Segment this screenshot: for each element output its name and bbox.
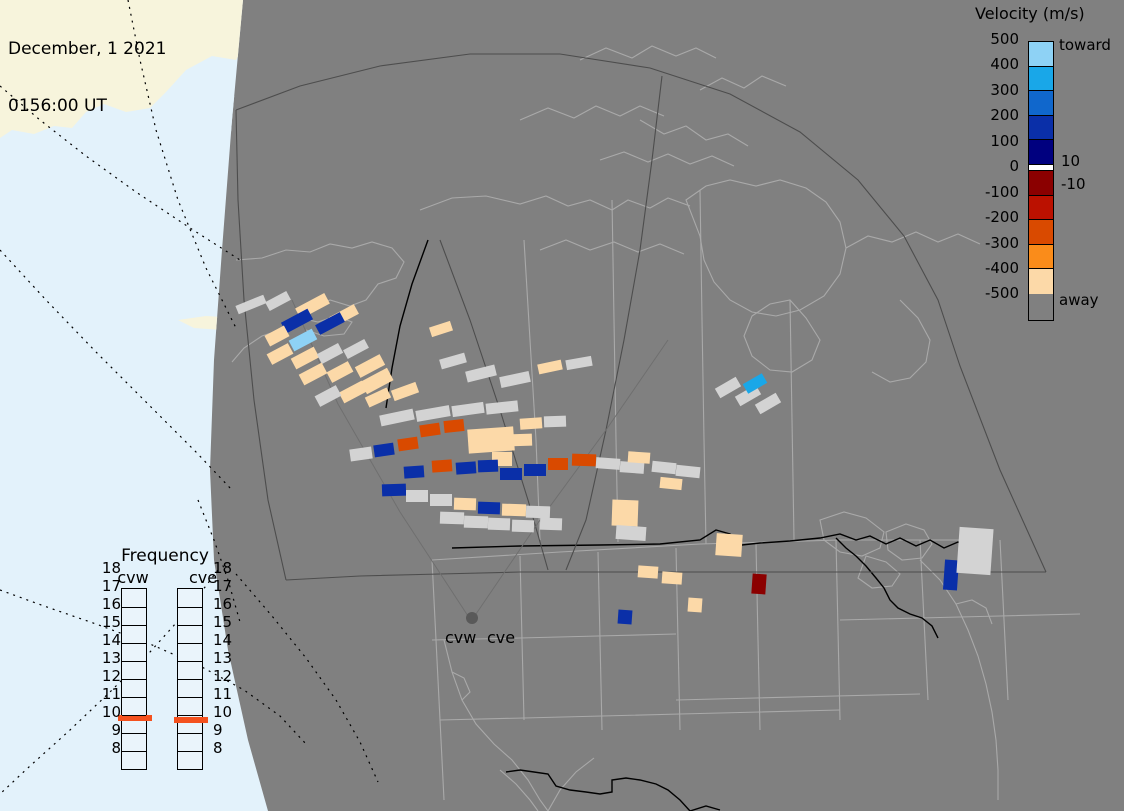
frequency-tick-cvw-15: 15: [102, 617, 121, 628]
radar-site-marker: [466, 612, 478, 624]
frequency-tick-cvw-9: 9: [111, 725, 121, 736]
frequency-tick-cve-15: 15: [213, 617, 232, 628]
frequency-gridline: [122, 679, 146, 680]
frequency-tick-cve-17: 17: [213, 581, 232, 592]
frequency-column-cve: cve 18171615141312111098: [173, 568, 233, 770]
colorbar-tick-7: -200: [975, 210, 1023, 235]
colorbar-tick-3: 200: [975, 108, 1023, 133]
colorbar-segment-8: [1029, 220, 1053, 245]
velocity-cell: [478, 460, 498, 473]
frequency-gridline: [178, 679, 202, 680]
velocity-cell: [512, 520, 534, 533]
frequency-tick-cvw-17: 17: [102, 581, 121, 592]
frequency-tick-cve-10: 10: [213, 707, 232, 718]
colorbar-tick-9: -400: [975, 261, 1023, 286]
radar-velocity-map: December, 1 2021 0156:00 UT Velocity (m/…: [0, 0, 1124, 811]
colorbar-tick-5: 0: [975, 159, 1023, 184]
velocity-cell: [659, 477, 682, 490]
colorbar-segment-9: [1029, 245, 1053, 270]
frequency-gridline: [122, 661, 146, 662]
frequency-tick-cve-16: 16: [213, 599, 232, 610]
frequency-tick-cve-9: 9: [213, 725, 223, 736]
velocity-cell: [526, 506, 550, 519]
colorbar-upper-threshold: 10: [1061, 152, 1080, 170]
velocity-cell: [488, 518, 510, 531]
colorbar-tick-1: 400: [975, 57, 1023, 82]
velocity-cell: [502, 504, 526, 517]
velocity-cell: [628, 451, 651, 464]
velocity-cell: [454, 498, 476, 511]
velocity-cell: [404, 465, 425, 478]
frequency-gridline: [122, 625, 146, 626]
colorbar-lower-threshold: -10: [1061, 175, 1086, 193]
title-date: December, 1 2021: [8, 40, 166, 59]
colorbar-tick-8: -300: [975, 236, 1023, 261]
frequency-tick-cvw-18: 18: [102, 563, 121, 574]
colorbar-segment-3: [1029, 116, 1053, 141]
timestamp-title: December, 1 2021 0156:00 UT: [8, 2, 166, 154]
site-label-cvw: cvw: [445, 628, 476, 647]
colorbar-toward-label: toward: [1059, 36, 1111, 54]
frequency-gridline: [122, 715, 146, 716]
colorbar-segment-10: [1029, 269, 1053, 294]
velocity-cell: [751, 574, 766, 595]
frequency-gridline: [122, 697, 146, 698]
frequency-gridline: [178, 661, 202, 662]
frequency-bar-cve: [177, 588, 203, 770]
velocity-cell: [616, 525, 647, 541]
velocity-cell: [406, 490, 428, 502]
velocity-cell: [544, 416, 566, 428]
frequency-gridline: [178, 715, 202, 716]
frequency-tick-cvw-14: 14: [102, 635, 121, 646]
velocity-cell: [618, 610, 633, 625]
velocity-cell: [500, 468, 522, 480]
colorbar-tick-4: 100: [975, 134, 1023, 159]
colorbar-away-label: away: [1059, 291, 1099, 309]
frequency-gridline: [122, 751, 146, 752]
velocity-cell: [456, 461, 477, 474]
frequency-gridline: [122, 643, 146, 644]
velocity-cell: [612, 500, 639, 527]
frequency-legend: Frequency cvw 18171615141312111098 cve 1…: [85, 546, 245, 791]
frequency-gridline: [178, 607, 202, 608]
frequency-gridline: [122, 733, 146, 734]
frequency-gridline: [178, 733, 202, 734]
velocity-cell: [524, 464, 546, 476]
velocity-cell: [520, 417, 543, 430]
title-time: 0156:00 UT: [8, 97, 166, 116]
frequency-column-cvw: cvw 18171615141312111098: [103, 568, 163, 770]
velocity-cell: [382, 484, 406, 497]
colorbar-segment-4: [1029, 140, 1053, 165]
velocity-cell: [548, 458, 568, 470]
velocity-cell: [572, 454, 596, 467]
velocity-cell: [430, 494, 452, 506]
velocity-cell: [662, 571, 683, 584]
colorbar-gradient: [1028, 41, 1054, 321]
velocity-cell: [464, 516, 488, 529]
velocity-cell: [596, 457, 621, 470]
colorbar-tick-labels: 5004003002001000-100-200-300-400-500: [975, 32, 1023, 312]
frequency-tick-cve-14: 14: [213, 635, 232, 646]
frequency-tick-cve-11: 11: [213, 689, 232, 700]
frequency-gridline: [178, 625, 202, 626]
frequency-gridline: [178, 751, 202, 752]
frequency-tick-cve-13: 13: [213, 653, 232, 664]
frequency-tick-cve-18: 18: [213, 563, 232, 574]
velocity-cell: [440, 512, 464, 525]
velocity-cell: [467, 426, 515, 453]
colorbar-tick-6: -100: [975, 185, 1023, 210]
frequency-tick-cvw-16: 16: [102, 599, 121, 610]
velocity-cell: [508, 434, 532, 447]
velocity-cell: [638, 565, 659, 578]
velocity-cell: [956, 527, 993, 575]
colorbar-segment-7: [1029, 196, 1053, 221]
frequency-gridline: [178, 643, 202, 644]
colorbar-segment-1: [1029, 67, 1053, 92]
frequency-tick-cvw-13: 13: [102, 653, 121, 664]
frequency-gridline: [178, 697, 202, 698]
velocity-cell: [443, 419, 464, 433]
velocity-cell: [540, 518, 562, 531]
frequency-tick-cvw-10: 10: [102, 707, 121, 718]
velocity-cell: [688, 598, 703, 613]
frequency-tick-cvw-8: 8: [111, 743, 121, 754]
colorbar-tick-2: 300: [975, 83, 1023, 108]
velocity-colorbar: Velocity (m/s) 5004003002001000-100-200-…: [975, 4, 1120, 334]
velocity-cell: [943, 560, 959, 591]
frequency-tick-cvw-11: 11: [102, 689, 121, 700]
velocity-cell: [715, 533, 742, 557]
velocity-cell: [478, 502, 500, 515]
colorbar-tick-10: -500: [975, 286, 1023, 311]
colorbar-segment-0: [1029, 42, 1053, 67]
colorbar-segment-6: [1029, 171, 1053, 196]
frequency-bar-cvw: [121, 588, 147, 770]
colorbar-tick-0: 500: [975, 32, 1023, 57]
frequency-gridline: [122, 607, 146, 608]
frequency-tick-cve-12: 12: [213, 671, 232, 682]
colorbar-title: Velocity (m/s): [975, 4, 1120, 23]
frequency-tick-cve-8: 8: [213, 743, 223, 754]
frequency-marker-cve: [174, 717, 208, 723]
colorbar-segment-2: [1029, 91, 1053, 116]
velocity-cell: [432, 459, 453, 472]
site-label-cve: cve: [487, 628, 515, 647]
frequency-tick-cvw-12: 12: [102, 671, 121, 682]
